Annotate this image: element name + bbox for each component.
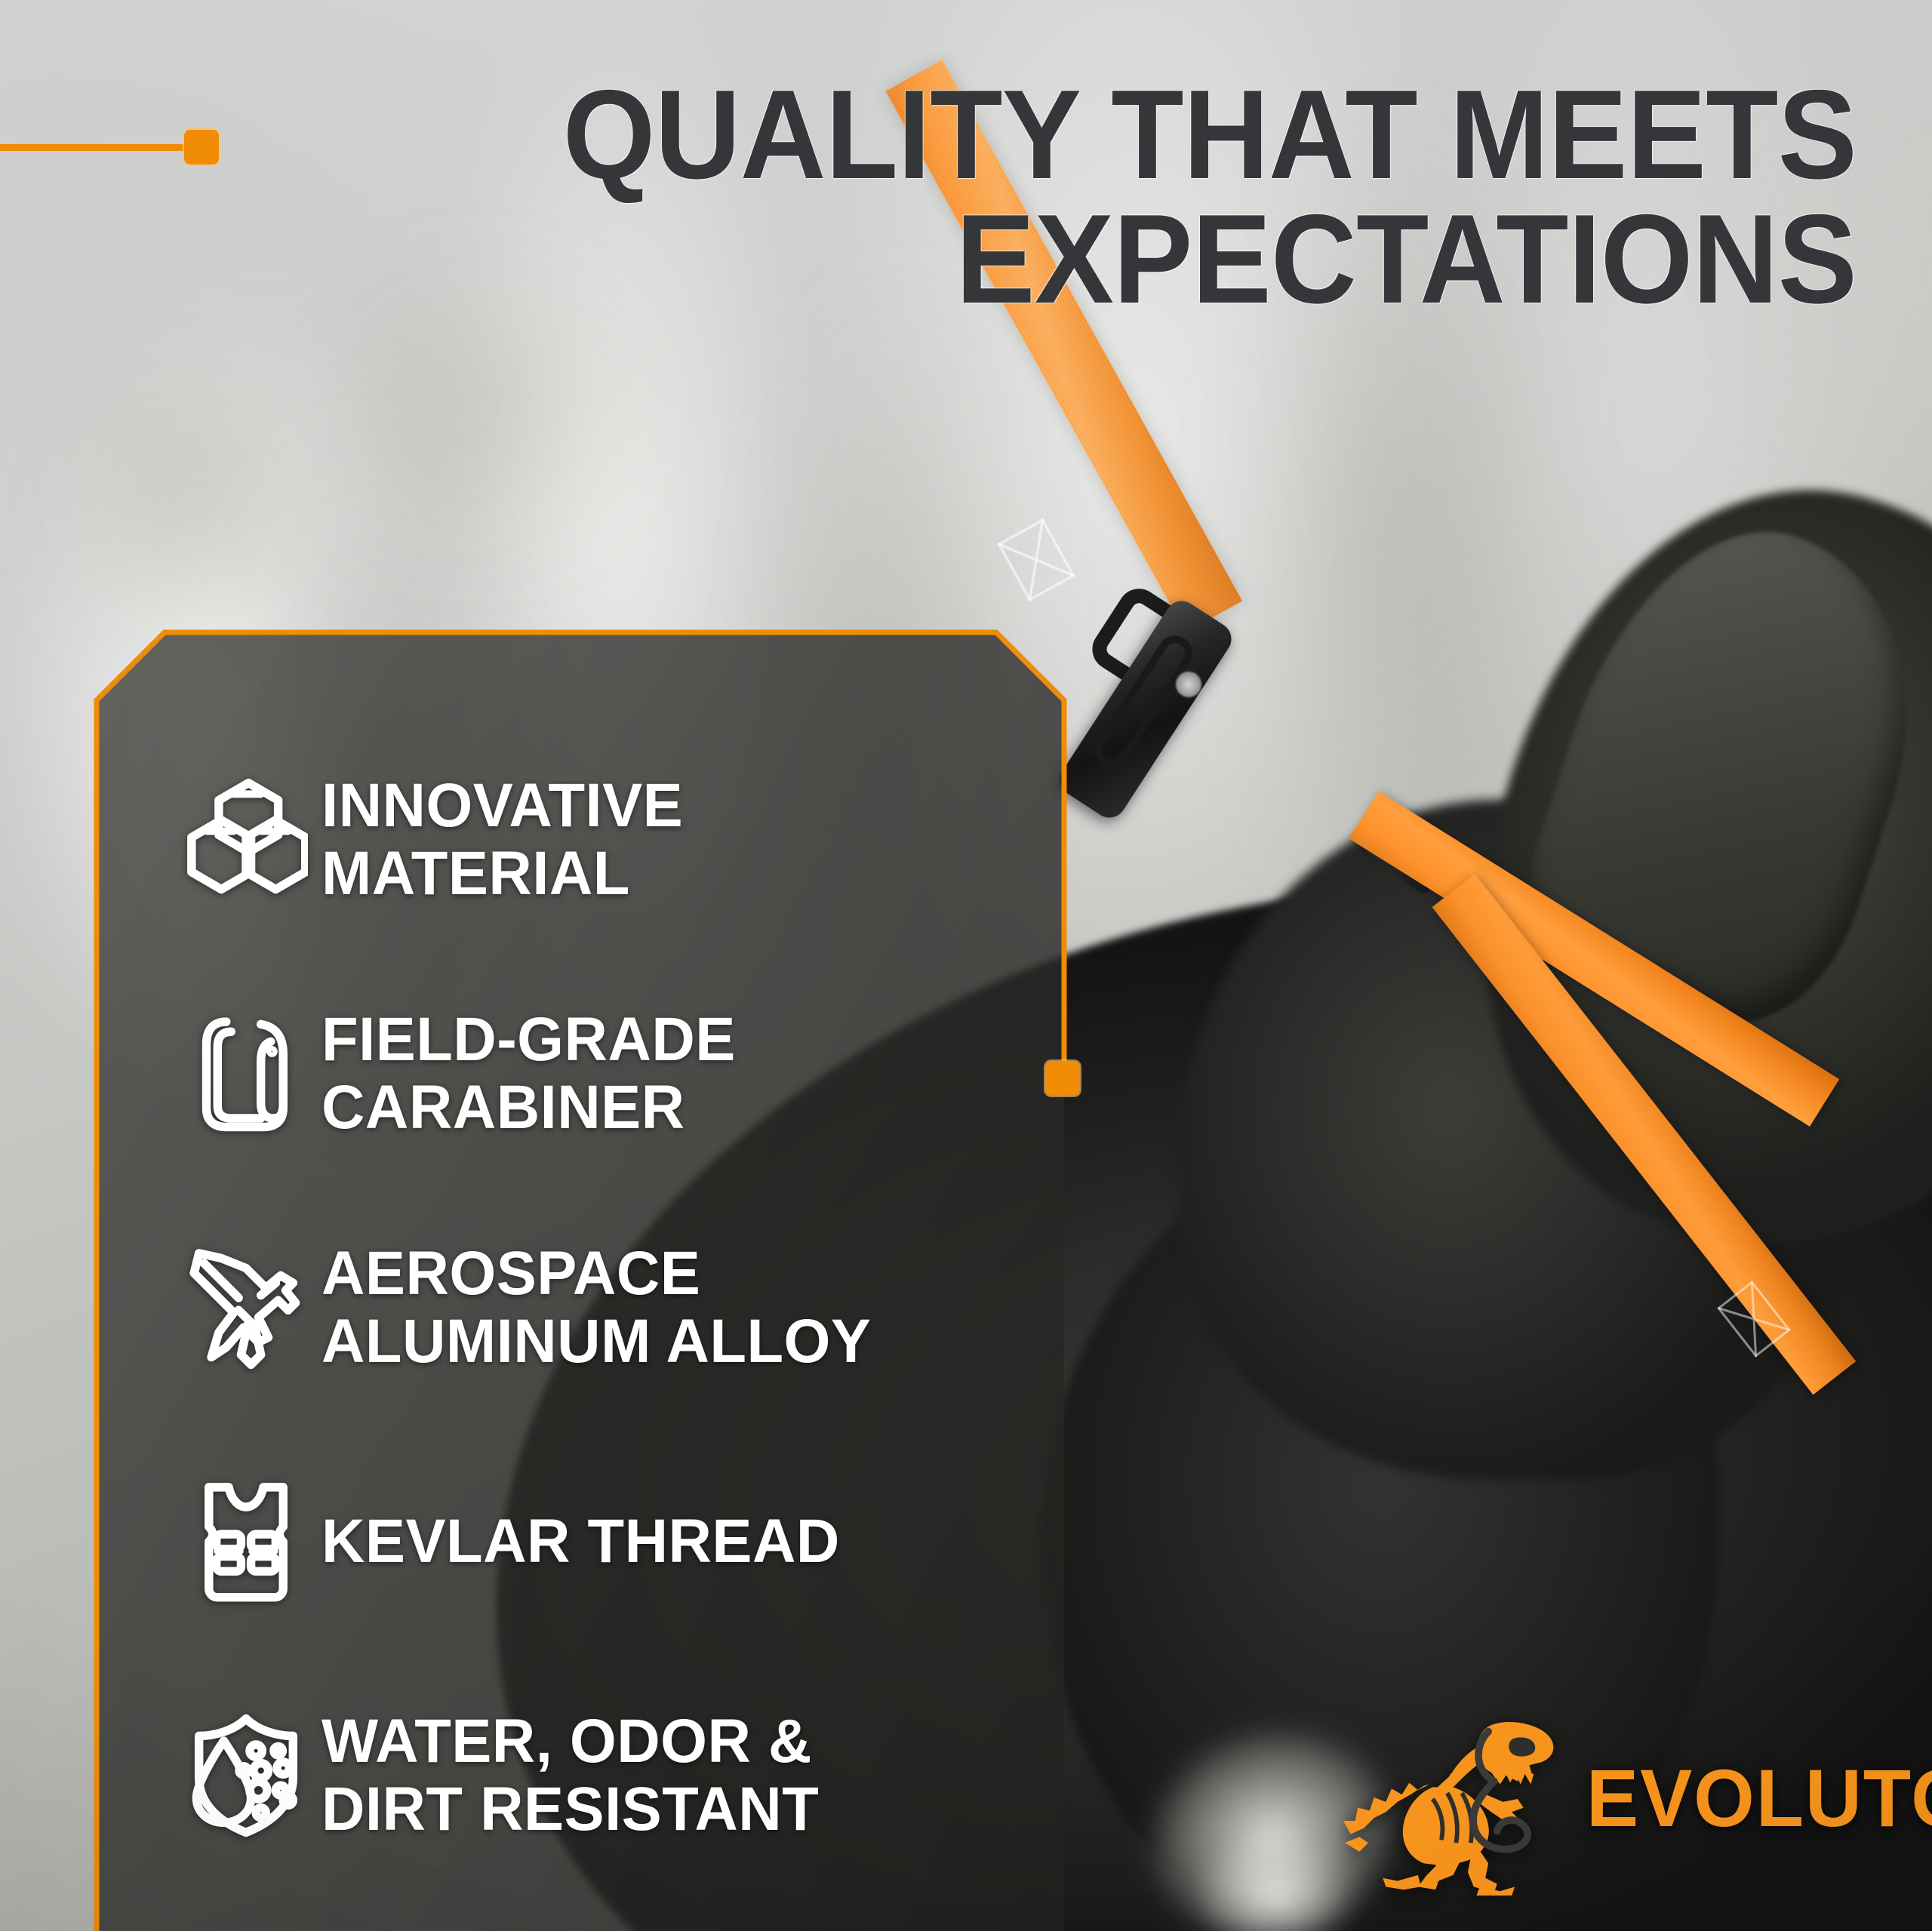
- fighter-jet-icon: [171, 1246, 321, 1370]
- feature-item-kevlar-thread[interactable]: KEVLAR THREAD: [171, 1425, 1031, 1659]
- tactical-vest-icon: [171, 1480, 321, 1604]
- feature-panel-accent-square: [1045, 1061, 1080, 1096]
- brand-name: EVOLUTOR: [1586, 1751, 1932, 1845]
- carabiner-highlight: [1176, 672, 1201, 697]
- feature-item-innovative-material[interactable]: INNOVATIVE MATERIAL: [171, 723, 1031, 957]
- hexagon-molecule-icon: [171, 778, 321, 902]
- shield-waterdrop-icon: [171, 1714, 321, 1837]
- feature-label: KEVLAR THREAD: [321, 1508, 840, 1576]
- carabiner-icon: [171, 1012, 321, 1136]
- feature-list: INNOVATIVE MATERIAL FIELD-GRADE CARABINE…: [171, 723, 1031, 1893]
- brand-logo[interactable]: EVOLUTOR: [1342, 1699, 1932, 1896]
- feature-label: FIELD-GRADE CARABINER: [321, 1006, 736, 1142]
- feature-item-aerospace-aluminum-alloy[interactable]: AEROSPACE ALUMINUM ALLOY: [171, 1191, 1031, 1425]
- feature-label: WATER, ODOR & DIRT RESISTANT: [321, 1708, 819, 1843]
- feature-item-field-grade-carabiner[interactable]: FIELD-GRADE CARABINER: [171, 957, 1031, 1191]
- product-feature-infographic: QUALITY THAT MEETS EXPECTATIONS INNOVATI…: [0, 0, 1932, 1931]
- feature-label: AEROSPACE ALUMINUM ALLOY: [321, 1240, 871, 1376]
- trex-skeleton-icon: [1342, 1699, 1591, 1896]
- page-title: QUALITY THAT MEETS EXPECTATIONS: [112, 72, 1857, 321]
- feature-item-water-odor-dirt-resistant[interactable]: WATER, ODOR & DIRT RESISTANT: [171, 1659, 1031, 1893]
- feature-label: INNOVATIVE MATERIAL: [321, 772, 683, 908]
